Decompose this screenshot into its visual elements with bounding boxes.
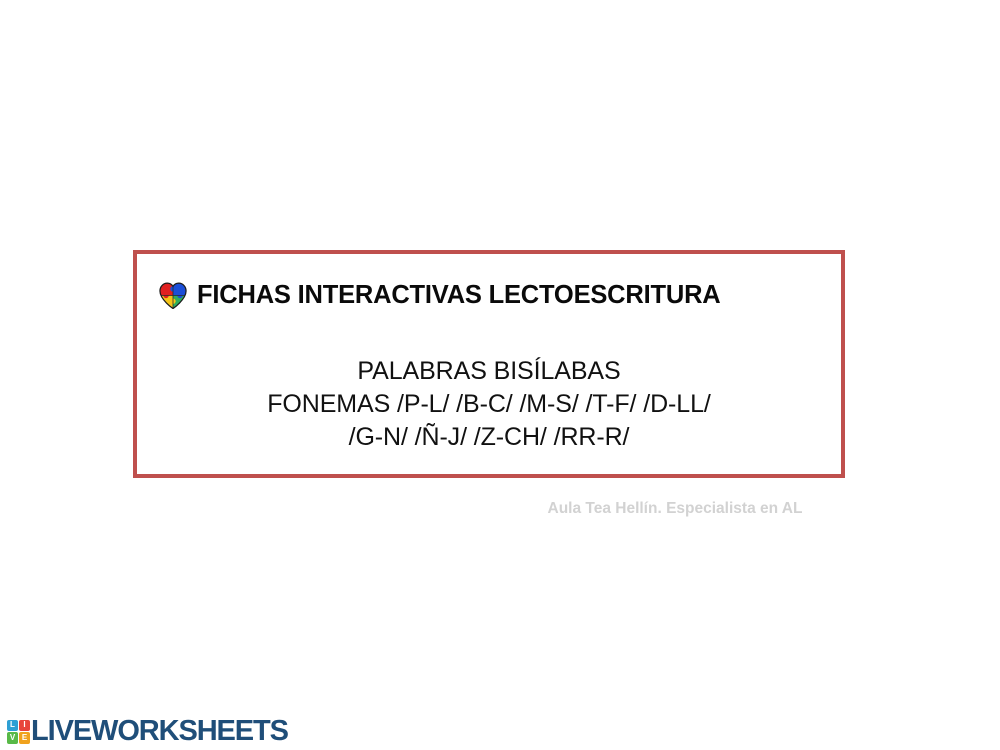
logo-tile-v: V [7, 732, 18, 744]
page-title: FICHAS INTERACTIVAS LECTOESCRITURA [197, 283, 721, 309]
heading-row: FICHAS INTERACTIVAS LECTOESCRITURA [159, 282, 721, 309]
subtitle-line-2: FONEMAS /P-L/ /B-C/ /M-S/ /T-F/ /D-LL/ [137, 388, 841, 421]
liveworksheets-logo[interactable]: L I V E LIVEWORKSHEETS [7, 717, 288, 746]
puzzle-heart-icon [159, 282, 187, 309]
liveworksheets-wordmark: LIVEWORKSHEETS [31, 717, 288, 746]
subtitle-line-3: /G-N/ /Ñ-J/ /Z-CH/ /RR-R/ [137, 421, 841, 454]
subtitle-block: PALABRAS BISÍLABAS FONEMAS /P-L/ /B-C/ /… [137, 355, 841, 454]
title-card: FICHAS INTERACTIVAS LECTOESCRITURA PALAB… [133, 250, 845, 478]
subtitle-line-1: PALABRAS BISÍLABAS [137, 355, 841, 388]
logo-tile-l: L [7, 720, 18, 732]
attribution-text: Aula Tea Hellín. Especialista en AL [505, 500, 845, 518]
liveworksheets-mark-icon: L I V E [7, 720, 30, 744]
logo-tile-i: I [19, 720, 30, 732]
logo-tile-e: E [19, 732, 30, 744]
